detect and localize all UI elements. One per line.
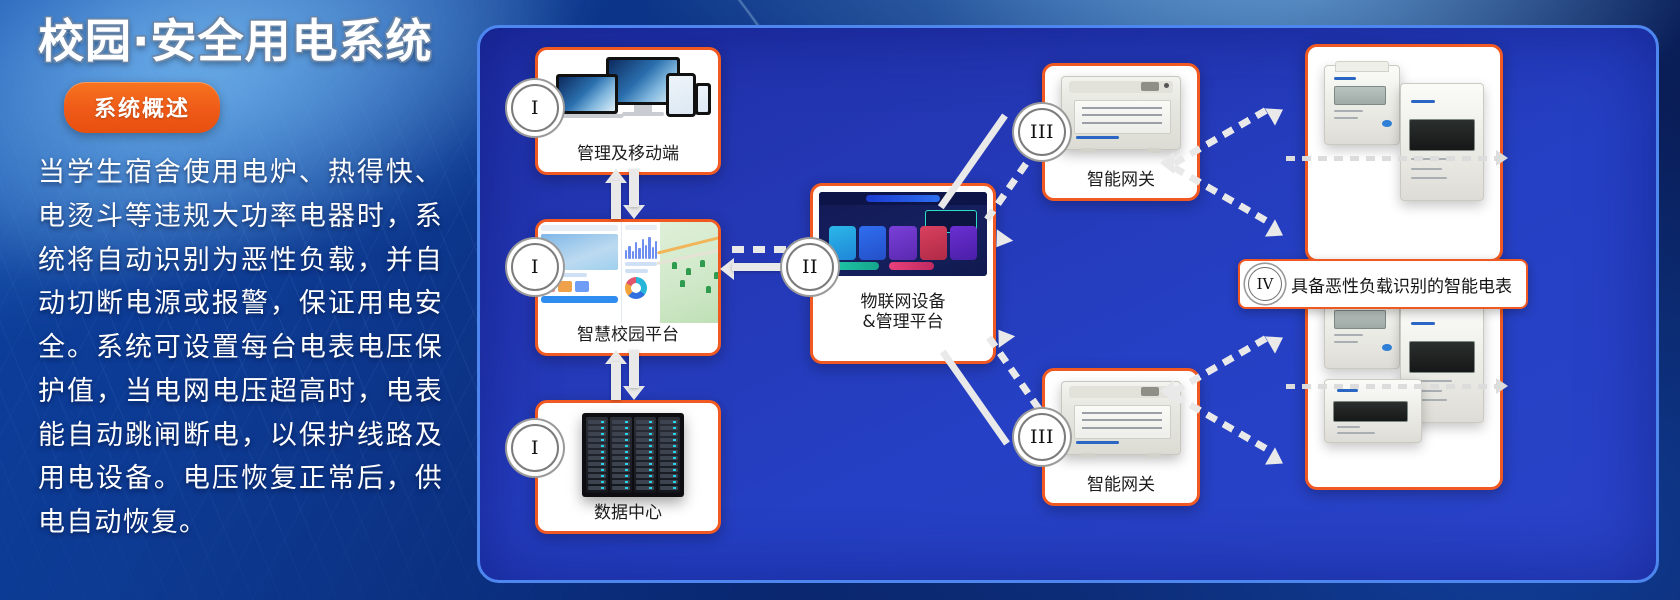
arrow-gateway-top-to-meters	[1166, 90, 1306, 230]
campus-platform-icon	[538, 222, 718, 323]
arrowhead-meters-top	[1496, 150, 1508, 166]
iot-dashboard-icon	[813, 186, 993, 282]
electric-meter-icon	[1308, 47, 1500, 259]
server-rack-icon	[538, 403, 718, 501]
node-caption: 智能网关	[1083, 473, 1159, 503]
arrowhead-meters-bottom	[1496, 378, 1508, 394]
node-iot-platform[interactable]: 物联网设备 &管理平台	[810, 183, 996, 364]
meter-label-text: 具备恶性负载识别的智能电表	[1291, 272, 1512, 297]
meter-label-chip[interactable]: IV 具备恶性负载识别的智能电表	[1238, 259, 1528, 309]
diagram-panel: 管理及移动端 I	[477, 25, 1659, 583]
node-admin-mobile[interactable]: 管理及移动端	[535, 47, 721, 175]
node-caption: 智能网关	[1083, 168, 1159, 198]
arrow-meters-top-internal	[1286, 156, 1496, 161]
arrow-meters-bottom-internal	[1286, 384, 1496, 389]
node-caption: 管理及移动端	[573, 142, 683, 172]
node-caption: 物联网设备 &管理平台	[857, 282, 950, 340]
left-column: 校园·安全用电系统 系统概述 当学生宿舍使用电炉、热得快、电烫斗等违规大功率电器…	[34, 14, 464, 545]
infographic-root: 校园·安全用电系统 系统概述 当学生宿舍使用电炉、热得快、电烫斗等违规大功率电器…	[0, 0, 1680, 600]
arrow-campus-to-datacenter	[605, 350, 645, 400]
meter-group-top[interactable]	[1305, 44, 1503, 262]
arrow-gateway-bottom-to-meters	[1166, 318, 1306, 458]
multi-device-icon	[538, 50, 718, 142]
badge-meter-label: IV	[1248, 267, 1282, 301]
page-title: 校园·安全用电系统	[38, 14, 464, 68]
badge-gateway-bottom: III	[1018, 413, 1066, 461]
node-caption: 数据中心	[590, 501, 666, 531]
badge-iot-platform: II	[786, 243, 834, 291]
section-badge-overview: 系统概述	[64, 82, 220, 133]
badge-admin-mobile: I	[511, 84, 559, 132]
node-caption: 智慧校园平台	[573, 323, 683, 353]
arrow-admin-to-campus	[605, 169, 645, 219]
badge-gateway-top: III	[1018, 108, 1066, 156]
badge-smart-campus: I	[511, 243, 559, 291]
node-smart-campus[interactable]: 智慧校园平台	[535, 219, 721, 356]
node-data-center[interactable]: 数据中心	[535, 400, 721, 534]
badge-data-center: I	[511, 424, 559, 472]
overview-paragraph: 当学生宿舍使用电炉、热得快、电烫斗等违规大功率电器时，系统将自动识别为恶性负载，…	[38, 151, 443, 545]
